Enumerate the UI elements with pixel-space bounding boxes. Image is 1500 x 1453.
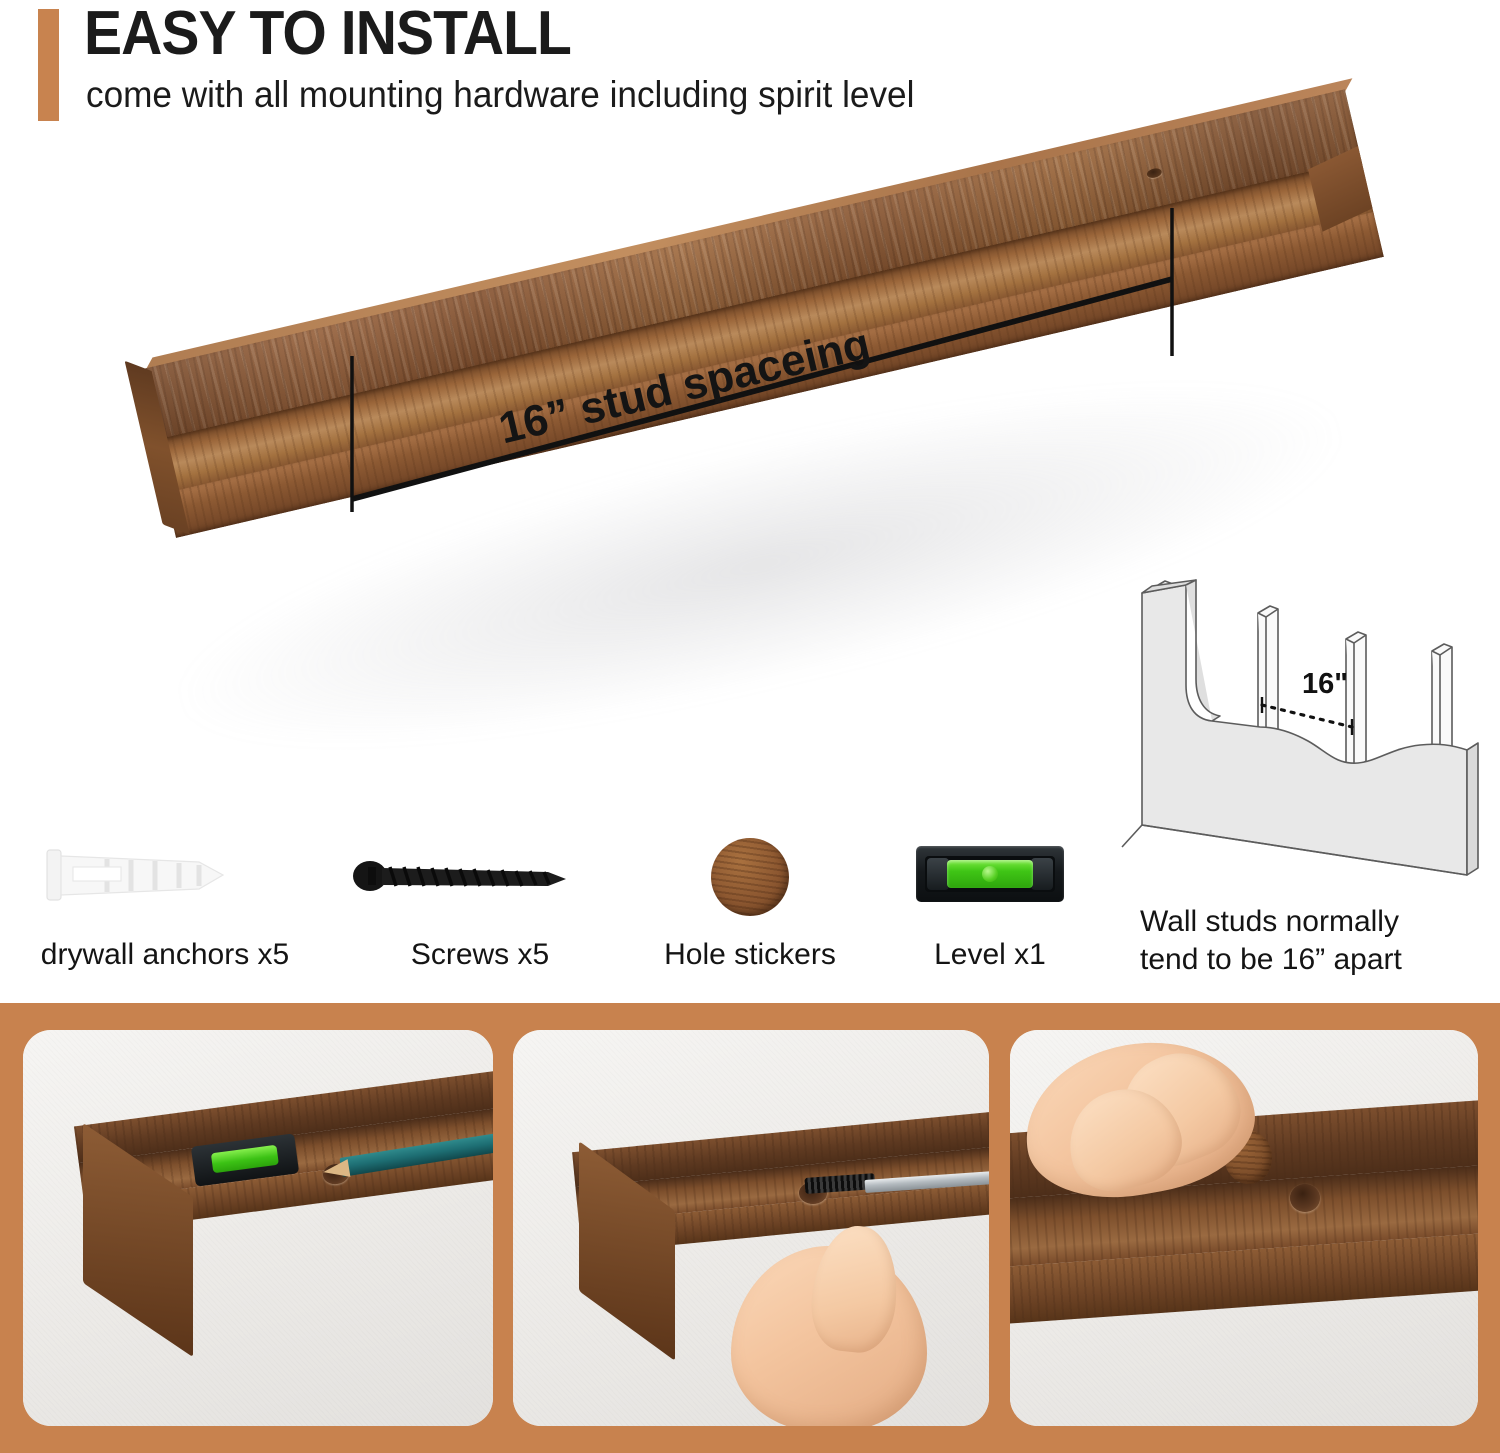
- accent-bar: [38, 9, 59, 121]
- level-vial: [947, 860, 1033, 888]
- page-subtitle: come with all mounting hardware includin…: [86, 74, 914, 116]
- spirit-level-icon: [860, 830, 1120, 922]
- step-photo-2: [513, 1030, 989, 1426]
- step-photo-1: [23, 1030, 493, 1426]
- hardware-label: drywall anchors x5: [5, 938, 325, 972]
- level-bubble: [982, 866, 998, 882]
- hardware-label: Hole stickers: [600, 938, 900, 972]
- drywall-anchor-icon: [5, 830, 325, 922]
- stud-diagram-svg: 16": [1120, 575, 1500, 905]
- hardware-item-screws: Screws x5: [330, 830, 630, 980]
- product-infographic: EASY TO INSTALL come with all mounting h…: [0, 0, 1500, 1453]
- hole-sticker-disc: [711, 838, 789, 916]
- screw-hole-photo-3: [1290, 1184, 1320, 1212]
- level-inner-recess: [925, 856, 1055, 892]
- hardware-item-hole-stickers: Hole stickers: [600, 830, 900, 980]
- mounting-hole-right: [1146, 167, 1163, 179]
- page-title: EASY TO INSTALL: [84, 0, 571, 69]
- installation-steps-panel: [0, 1003, 1500, 1453]
- step-photo-3: [1010, 1030, 1478, 1426]
- wall-stud-diagram: 16" Wall studs normally tend to be 16” a…: [1120, 575, 1500, 975]
- shelf-body: [127, 89, 1390, 567]
- screw-icon: [330, 830, 630, 922]
- level-housing: [916, 846, 1064, 902]
- hole-sticker-icon: [600, 830, 900, 922]
- hardware-item-level: Level x1: [860, 830, 1120, 980]
- hardware-item-drywall-anchors: drywall anchors x5: [5, 830, 325, 980]
- included-hardware-list: drywall anchors x5: [0, 830, 1120, 980]
- stud-caption-line1: Wall studs normally: [1140, 905, 1399, 938]
- svg-text:16": 16": [1302, 668, 1348, 700]
- level-end-cap-right: [1031, 858, 1053, 890]
- hardware-label: Level x1: [860, 938, 1120, 972]
- stud-diagram-caption: Wall studs normally tend to be 16” apart: [1140, 903, 1490, 980]
- stud-caption-line2: tend to be 16” apart: [1140, 943, 1402, 976]
- level-vial: [211, 1145, 280, 1174]
- level-end-cap-left: [927, 858, 949, 890]
- hardware-label: Screws x5: [330, 938, 630, 972]
